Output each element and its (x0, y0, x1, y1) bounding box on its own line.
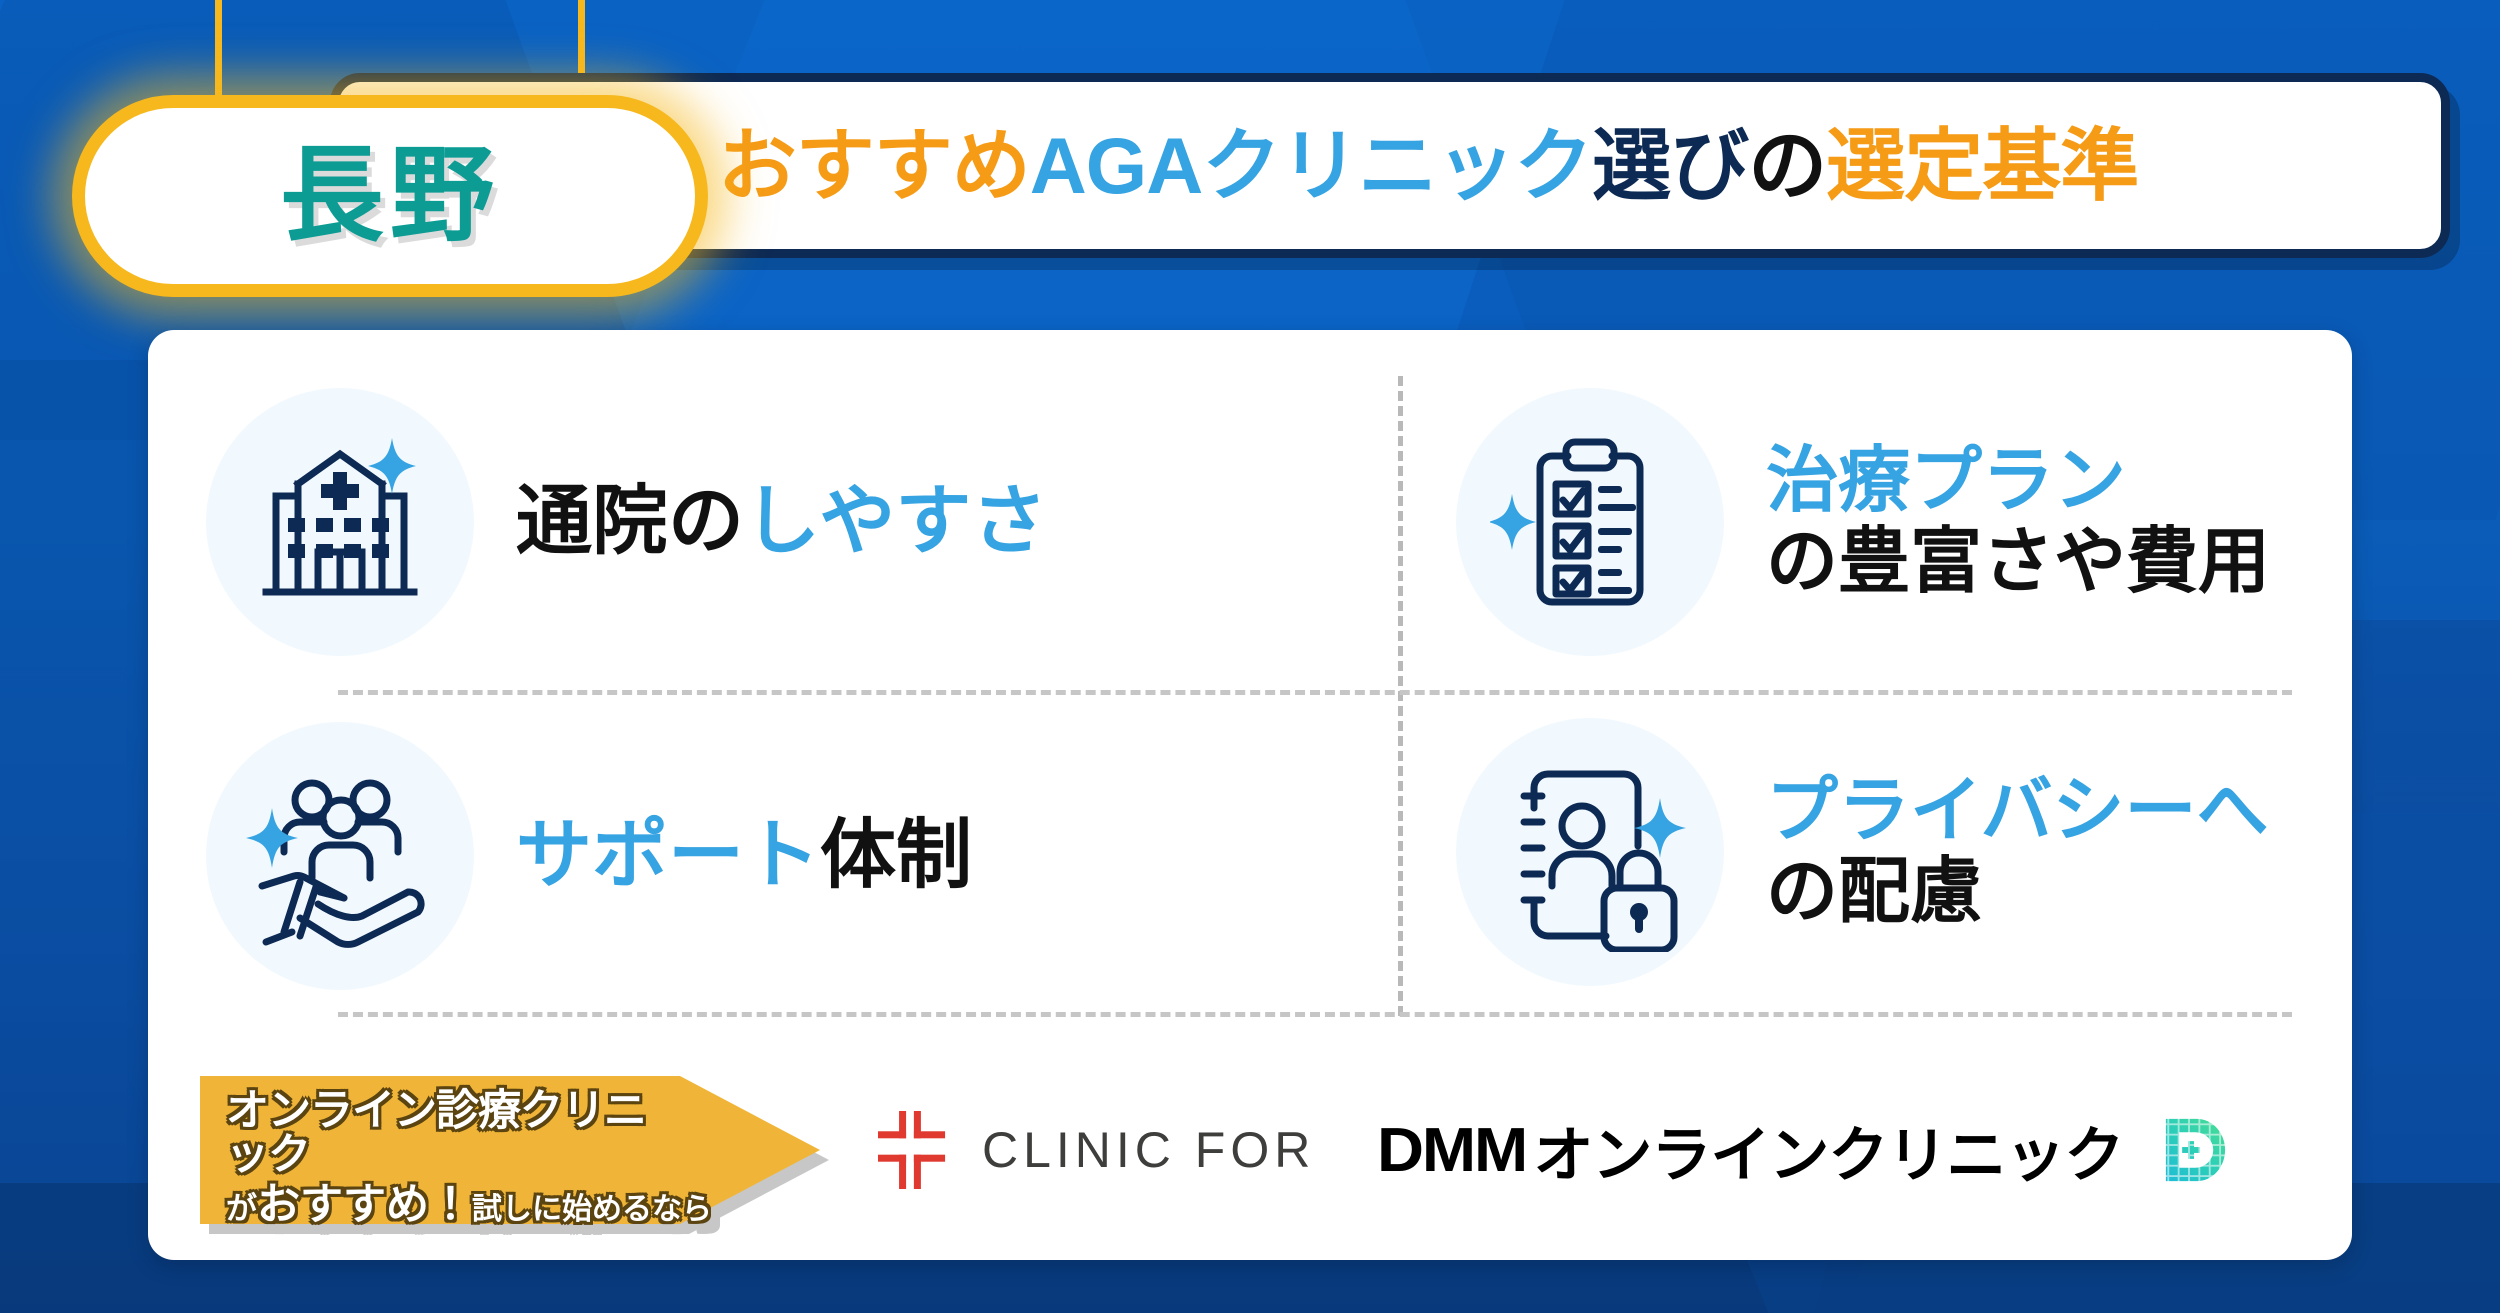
title-segment-aga-clinic: AGAクリニック (1030, 121, 1593, 210)
dmm-online-clinic-logo[interactable]: DMM オンラインクリニック (1377, 1107, 2231, 1194)
dmm-wordmark: DMM (1377, 1115, 1526, 1186)
arrow-banner-ga: が (226, 1191, 257, 1226)
feature-item-support: サポート体制 (188, 706, 1368, 1006)
feature-label-plans-line1: 治療プラン (1766, 441, 2270, 522)
feature-label-access: 通院のしやすさ (516, 479, 1047, 564)
arrow-banner-osusume: おすすめ！ (257, 1181, 472, 1229)
feature-label-plans-line2: の豊富さや費用 (1766, 522, 2270, 603)
title-segment-erabi: 選び (1592, 121, 1748, 210)
page-title: おすすめAGAクリニック選びの選定基準 (718, 126, 2139, 205)
footer-logos: オンライン診療クリニック がおすすめ！試しに始めるなら CLINIC FOR (148, 1040, 2352, 1260)
feature-label-access-prefix: 通院の (516, 479, 744, 564)
clinic-for-logo[interactable]: CLINIC FOR (878, 1111, 1315, 1189)
dmm-online-clinic-jp-text: オンラインクリニック (1533, 1107, 2123, 1194)
d-clinic-pixel-logo-icon (2157, 1113, 2231, 1187)
arrow-banner-tail: 試しに始めるなら (472, 1193, 712, 1226)
feature-item-plans: 治療プラン の豊富さや費用 (1438, 362, 2338, 682)
grid-vertical-divider (1398, 376, 1403, 1016)
region-badge-label: 長野 (280, 144, 500, 248)
feature-label-support: サポート体制 (516, 813, 972, 898)
region-badge: 長野 (72, 95, 708, 297)
title-segment-no: の (1748, 121, 1826, 210)
clipboard-checklist-icon (1456, 388, 1724, 656)
feature-label-privacy-line1: プライバシーへ (1766, 771, 2269, 852)
hospital-icon (206, 388, 474, 656)
arrow-banner-line2: がおすすめ！試しに始めるなら (226, 1184, 686, 1228)
feature-item-access: 通院のしやすさ (188, 362, 1368, 682)
feature-label-plans: 治療プラン の豊富さや費用 (1766, 441, 2270, 602)
clinic-for-cross-icon (878, 1111, 956, 1189)
clinic-for-wordmark: CLINIC FOR (982, 1121, 1315, 1179)
privacy-lock-person-icon (1456, 718, 1724, 986)
title-segment-criteria: 選定基準 (1826, 121, 2138, 210)
header: おすすめAGAクリニック選びの選定基準 長野 (0, 55, 2500, 295)
feature-item-privacy: プライバシーへ の配慮 (1438, 692, 2338, 1012)
title-segment-osusume: おすすめ (718, 121, 1030, 210)
feature-label-support-highlight: サポート (516, 813, 820, 898)
arrow-banner-text: オンライン診療クリニック がおすすめ！試しに始めるなら (226, 1090, 686, 1228)
feature-grid: 通院のしやすさ (148, 340, 2352, 1040)
feature-label-access-highlight: しやすさ (744, 479, 1047, 564)
feature-label-privacy-line2: の配慮 (1766, 852, 2269, 933)
arrow-banner-line1: オンライン診療クリニック (226, 1090, 686, 1178)
main-panel: 通院のしやすさ (148, 330, 2352, 1260)
feature-label-support-suffix: 体制 (820, 813, 972, 898)
feature-label-privacy-highlight: プライバシーへ (1766, 771, 2269, 851)
online-clinic-arrow-banner: オンライン診療クリニック がおすすめ！試しに始めるなら (200, 1076, 820, 1224)
feature-label-privacy: プライバシーへ の配慮 (1766, 771, 2269, 932)
grid-footer-divider (338, 1012, 2292, 1017)
support-hands-people-icon (206, 722, 474, 990)
